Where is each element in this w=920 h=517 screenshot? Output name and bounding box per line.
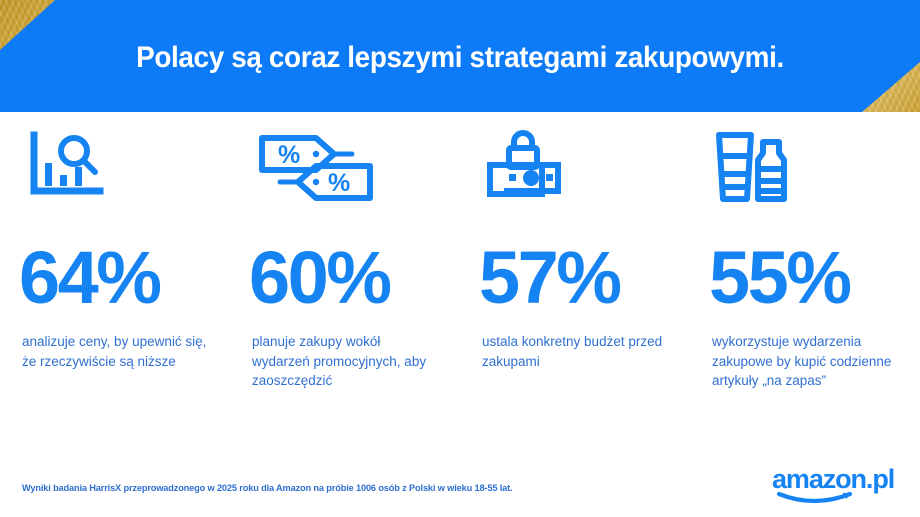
bar-chart-magnifier-icon [22,112,208,224]
stat-card: 64% analizuje ceny, by upewnić się, że r… [0,112,230,447]
stat-percent: 64% [19,224,208,332]
locked-money-icon [482,112,668,224]
tube-bottle-products-icon [712,112,898,224]
svg-text:amazon.pl: amazon.pl [772,464,894,494]
stat-card: 55% wykorzystuje wydarzenia zakupowe by … [690,112,920,447]
stat-description: planuje zakupy wokół wydarzeń promocyjny… [252,332,438,391]
stat-description: analizuje ceny, by upewnić się, że rzecz… [22,332,208,371]
header-banner: Polacy są coraz lepszymi strategami zaku… [0,0,920,112]
stats-grid: 64% analizuje ceny, by upewnić się, że r… [0,112,920,447]
svg-text:%: % [328,169,350,197]
footer: Wyniki badania HarrisX przeprowadzonego … [0,447,920,517]
stat-percent: 60% [249,224,438,332]
page-title: Polacy są coraz lepszymi strategami zaku… [32,0,888,112]
stat-card: 57% ustala konkretny budżet przed zakupa… [460,112,690,447]
amazon-pl-logo: amazon.pl [770,463,898,505]
stat-description: ustala konkretny budżet przed zakupami [482,332,668,371]
stat-card: % % 60% planuje zakupy wokół wydarzeń pr… [230,112,460,447]
stat-percent: 57% [479,224,668,332]
discount-tags-icon: % % [252,112,438,224]
source-footnote: Wyniki badania HarrisX przeprowadzonego … [22,483,512,494]
svg-text:%: % [278,141,300,169]
stat-percent: 55% [709,224,898,332]
stat-description: wykorzystuje wydarzenia zakupowe by kupi… [712,332,898,391]
